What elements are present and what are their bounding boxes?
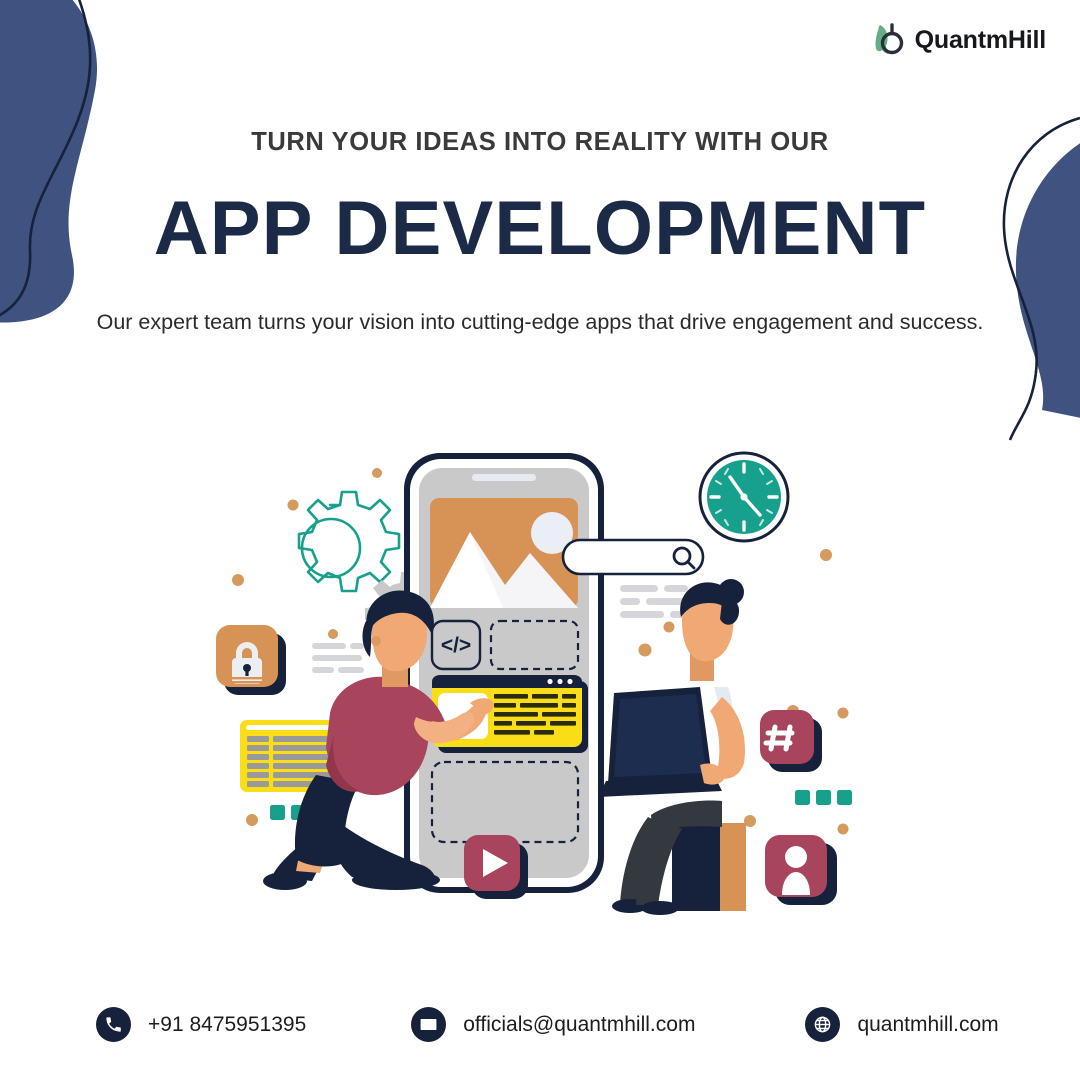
- envelope-icon: [411, 1007, 446, 1042]
- leaf-logo-icon: [871, 22, 905, 58]
- window-dots: [547, 679, 572, 684]
- brand-logo[interactable]: QuantmHill: [871, 22, 1046, 58]
- phone-icon: [96, 1007, 131, 1042]
- contact-website[interactable]: quantmhill.com: [805, 1007, 998, 1042]
- hero-illustration: </>: [0, 425, 1080, 935]
- image-placeholder: [430, 498, 578, 608]
- gear-outline-icon: [299, 492, 399, 591]
- globe-icon: [805, 1007, 840, 1042]
- phone-mockup: </>: [404, 453, 604, 893]
- hashtag-icon[interactable]: [760, 710, 822, 772]
- code-button[interactable]: </>: [432, 621, 480, 669]
- footer-contact-bar: +91 8475951395 officials@quantmhill.com …: [0, 1007, 1080, 1042]
- phone-number: +91 8475951395: [148, 1013, 306, 1037]
- headline-block: TURN YOUR IDEAS INTO REALITY WITH OUR AP…: [0, 128, 1080, 338]
- contact-phone[interactable]: +91 8475951395: [96, 1007, 306, 1042]
- lock-icon[interactable]: [216, 625, 286, 695]
- play-button-icon[interactable]: [464, 835, 528, 899]
- website-url: quantmhill.com: [857, 1013, 998, 1037]
- text-lines-left: [312, 643, 364, 673]
- eyebrow-text: TURN YOUR IDEAS INTO REALITY WITH OUR: [0, 128, 1080, 157]
- dashed-placeholder-top: [491, 621, 578, 669]
- profile-icon[interactable]: [765, 835, 837, 905]
- teal-squares-right: [795, 790, 852, 805]
- code-button-label: </>: [441, 634, 471, 657]
- text-lines-right: [620, 585, 688, 618]
- subtitle-text: Our expert team turns your vision into c…: [0, 307, 1080, 338]
- code-window: [432, 675, 588, 753]
- contact-email[interactable]: officials@quantmhill.com: [411, 1007, 695, 1042]
- dashed-placeholder-bottom: [432, 762, 578, 842]
- search-bar[interactable]: [563, 540, 703, 574]
- page-title: APP DEVELOPMENT: [0, 191, 1080, 267]
- email-address: officials@quantmhill.com: [463, 1013, 695, 1037]
- brand-name: QuantmHill: [915, 26, 1046, 55]
- clock-icon: [700, 453, 788, 541]
